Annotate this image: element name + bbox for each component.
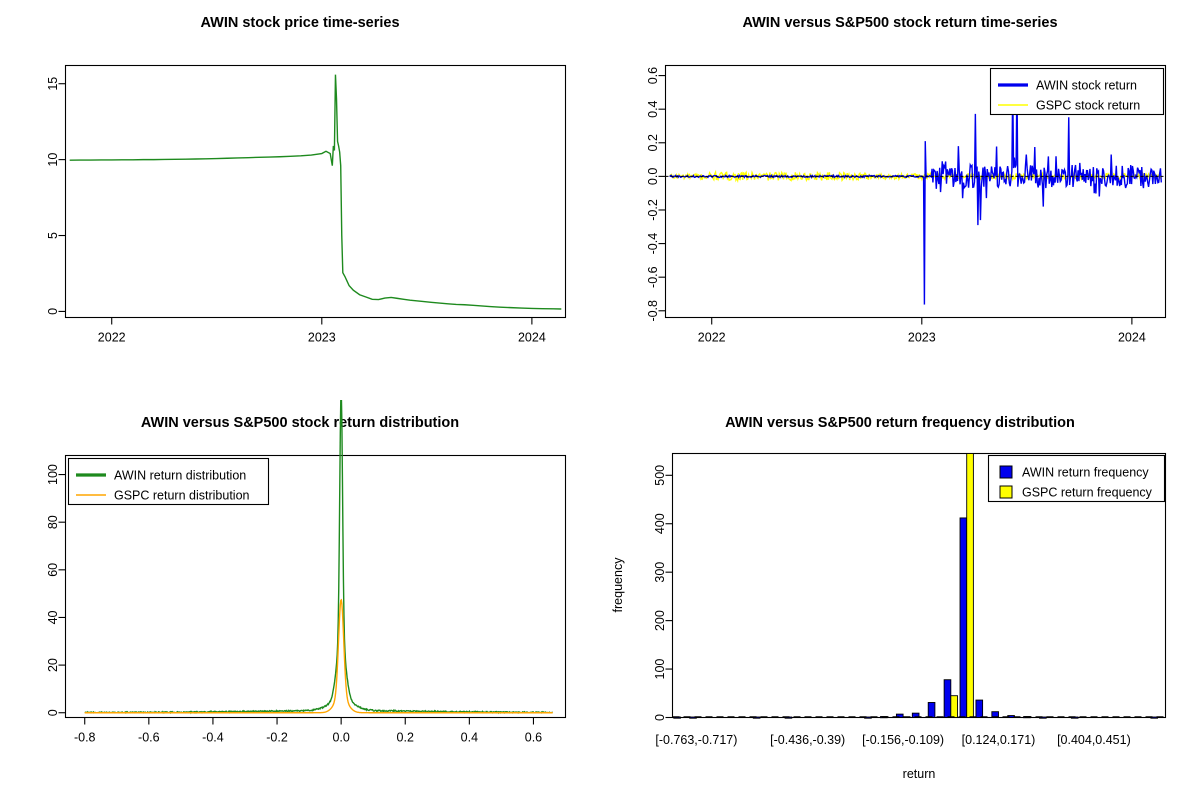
panel-title: AWIN versus S&P500 stock return distribu…: [141, 415, 459, 431]
y-tick-label: 0: [46, 308, 60, 315]
x-tick-label: 0.4: [461, 731, 478, 745]
legend-return-timeseries[interactable]: AWIN stock returnGSPC stock return: [991, 69, 1164, 115]
legend-label: AWIN return frequency: [1022, 466, 1149, 480]
y-tick-label: 0.4: [646, 100, 660, 117]
plot-area-br: 0100200300400500 [-0.763,-0.717)[-0.436,…: [611, 454, 1166, 782]
panel-awin-sp500-return-frequency: AWIN versus S&P500 return frequency dist…: [600, 400, 1200, 800]
y-tick-label: 10: [46, 153, 60, 167]
plot-box: [66, 66, 566, 318]
plot-area-bl: 020406080100 -0.8-0.6-0.4-0.20.00.20.40.…: [46, 400, 566, 745]
legend-swatch: [1000, 486, 1012, 498]
legend-return-distribution[interactable]: AWIN return distributionGSPC return dist…: [69, 459, 269, 505]
x-tick-label: -0.2: [266, 731, 288, 745]
panel-title: AWIN versus S&P500 stock return time-ser…: [742, 15, 1057, 31]
plot-area-tr: -0.8-0.6-0.4-0.20.00.20.40.6 20222023202…: [646, 66, 1166, 345]
y-tick-label: -0.2: [646, 199, 660, 221]
x-tick-label: 2022: [698, 331, 726, 345]
legend-label: GSPC return distribution: [114, 489, 250, 503]
panel-awin-sp500-return-timeseries: AWIN versus S&P500 stock return time-ser…: [600, 0, 1200, 400]
legend-label: GSPC stock return: [1036, 99, 1140, 113]
x-tick-label: -0.4: [202, 731, 224, 745]
legend-swatch: [1000, 466, 1012, 478]
y-tick-label: 300: [653, 562, 667, 583]
y-tick-label: 0.2: [646, 134, 660, 151]
y-tick-label: 80: [46, 515, 60, 529]
awin-price-chart: AWIN stock price time-series 051015 2022…: [0, 0, 600, 400]
x-tick-label: 0.2: [397, 731, 414, 745]
series-gspc-density: [85, 600, 553, 713]
histogram-bar: [967, 454, 974, 718]
y-tick-label: 400: [653, 513, 667, 534]
panel-awin-price-timeseries: AWIN stock price time-series 051015 2022…: [0, 0, 600, 400]
x-tick-label: 2023: [308, 331, 336, 345]
y-tick-label: 20: [46, 658, 60, 672]
x-axis-ticks: 202220232024: [98, 318, 546, 345]
legend-return-frequency[interactable]: AWIN return frequencyGSPC return frequen…: [989, 456, 1165, 502]
histogram-bar: [976, 700, 983, 717]
y-tick-label: 0.6: [646, 67, 660, 84]
y-tick-label: 500: [653, 465, 667, 486]
panel-title: AWIN versus S&P500 return frequency dist…: [725, 415, 1075, 431]
return-timeseries-chart: AWIN versus S&P500 stock return time-ser…: [600, 0, 1200, 400]
y-tick-label: -0.4: [646, 233, 660, 255]
return-frequency-chart: AWIN versus S&P500 return frequency dist…: [600, 400, 1200, 800]
histogram-bar: [951, 696, 958, 718]
y-tick-label: 100: [46, 464, 60, 485]
y-tick-label: 40: [46, 610, 60, 624]
x-tick-label: 0.0: [332, 731, 349, 745]
y-axis-ticks: 051015: [46, 77, 66, 315]
legend-label: AWIN return distribution: [114, 469, 246, 483]
y-tick-label: -0.6: [646, 266, 660, 288]
x-tick-label: -0.8: [74, 731, 96, 745]
x-bin-label: [-0.436,-0.39): [770, 733, 845, 747]
return-distribution-chart: AWIN versus S&P500 stock return distribu…: [0, 400, 600, 800]
legend-label: GSPC return frequency: [1022, 486, 1153, 500]
y-axis-ticks: -0.8-0.6-0.4-0.20.00.20.40.6: [646, 67, 666, 322]
x-tick-label: 0.6: [525, 731, 542, 745]
figure-canvas: AWIN stock price time-series 051015 2022…: [0, 0, 1200, 800]
x-bin-label: [0.124,0.171): [962, 733, 1036, 747]
y-tick-label: 0: [46, 709, 60, 716]
y-axis-ticks: 0100200300400500: [653, 465, 673, 721]
y-tick-label: 15: [46, 77, 60, 91]
x-axis-bin-labels: [-0.763,-0.717)[-0.436,-0.39)[-0.156,-0.…: [655, 733, 1130, 747]
x-tick-label: 2024: [518, 331, 546, 345]
x-tick-label: -0.6: [138, 731, 160, 745]
x-axis-ticks: -0.8-0.6-0.4-0.20.00.20.40.6: [74, 718, 542, 745]
x-tick-label: 2022: [98, 331, 126, 345]
x-bin-label: [-0.763,-0.717): [655, 733, 737, 747]
series-awin-price: [70, 75, 562, 309]
histogram-bar: [960, 518, 967, 718]
y-tick-label: 5: [46, 232, 60, 239]
x-tick-label: 2023: [908, 331, 936, 345]
x-bin-label: [0.404,0.451): [1057, 733, 1131, 747]
histogram-bar: [928, 702, 935, 717]
series-awin-density: [85, 400, 553, 713]
x-tick-label: 2024: [1118, 331, 1146, 345]
y-tick-label: -0.8: [646, 300, 660, 322]
y-tick-label: 100: [653, 659, 667, 680]
y-tick-label: 0: [653, 714, 667, 721]
x-axis-ticks: 202220232024: [698, 318, 1146, 345]
histogram-bar: [944, 680, 951, 718]
legend-label: AWIN stock return: [1036, 79, 1137, 93]
y-tick-label: 0.0: [646, 168, 660, 185]
y-tick-label: 200: [653, 610, 667, 631]
y-axis-title: frequency: [611, 557, 625, 613]
y-axis-ticks: 020406080100: [46, 464, 66, 716]
y-tick-label: 60: [46, 563, 60, 577]
panel-title: AWIN stock price time-series: [200, 15, 399, 31]
plot-area-tl: 051015 202220232024: [46, 66, 566, 345]
panel-awin-sp500-return-distribution: AWIN versus S&P500 stock return distribu…: [0, 400, 600, 800]
x-bin-label: [-0.156,-0.109): [862, 733, 944, 747]
x-axis-title: return: [903, 767, 936, 781]
